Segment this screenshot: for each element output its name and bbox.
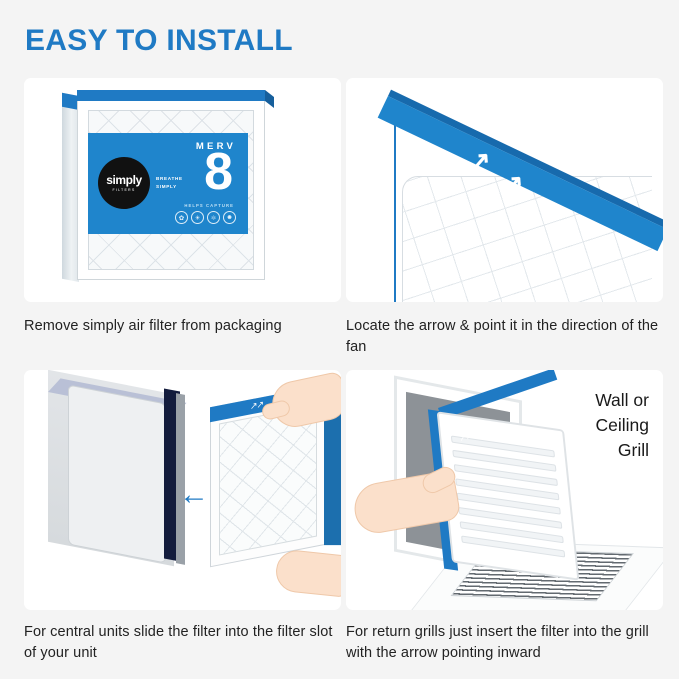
- filter-frame-closeup: ↗ ↗: [346, 78, 663, 302]
- capture-icon-row: ✿ ☀ ⚛ ☻: [175, 211, 236, 224]
- tagline-line-2: SIMPLY: [156, 183, 183, 191]
- wall-or-ceiling-grill-label: Wall or Ceiling Grill: [595, 388, 649, 463]
- step-4-image: ↗↗ Wall or Ceiling Grill: [346, 370, 663, 610]
- step-1-image: simply FILTERS BREATHE SIMPLY MERV 8 HEL…: [24, 78, 341, 302]
- step-1-caption: Remove simply air filter from packaging: [24, 316, 341, 337]
- hand-lower: [274, 548, 341, 597]
- mold-icon: ⚛: [207, 211, 220, 224]
- page-title: EASY TO INSTALL: [25, 26, 293, 56]
- label-line-2: Ceiling: [595, 413, 649, 438]
- step-2: ↗ ↗ Locate the arrow & point it in the d…: [346, 78, 663, 357]
- brand-logo: simply FILTERS: [98, 157, 150, 209]
- airflow-arrow-2: ↗: [501, 170, 525, 197]
- merv-rating: 8: [204, 146, 232, 198]
- label-line-3: Grill: [595, 438, 649, 463]
- step-4-caption: For return grills just insert the filter…: [346, 622, 663, 663]
- helps-capture-label: HELPS CAPTURE: [184, 203, 234, 208]
- filter-mesh: [402, 176, 652, 302]
- box-label: simply FILTERS BREATHE SIMPLY MERV 8 HEL…: [88, 133, 248, 234]
- step-1: simply FILTERS BREATHE SIMPLY MERV 8 HEL…: [24, 78, 341, 337]
- infographic-page: EASY TO INSTALL simply FILTERS: [0, 0, 679, 679]
- brand-name: simply: [106, 174, 142, 186]
- pollen-icon: ✿: [175, 211, 188, 224]
- step-4: ↗↗ Wall or Ceiling Grill For return gril…: [346, 370, 663, 663]
- step-3-image: ← ↗↗: [24, 370, 341, 610]
- dust-icon: ☀: [191, 211, 204, 224]
- insert-direction-arrow: ←: [179, 480, 209, 510]
- box-top-band: [77, 90, 265, 101]
- frame-vertical-edge: [394, 102, 396, 302]
- tagline-line-1: BREATHE: [156, 175, 183, 183]
- brand-tagline: BREATHE SIMPLY: [156, 175, 183, 191]
- product-box: simply FILTERS BREATHE SIMPLY MERV 8 HEL…: [62, 90, 274, 290]
- airflow-arrow-1: ↗: [468, 147, 492, 174]
- filter-mesh: [219, 404, 317, 555]
- pet-dander-icon: ☻: [223, 211, 236, 224]
- step-2-caption: Locate the arrow & point it in the direc…: [346, 316, 663, 357]
- label-line-1: Wall or: [595, 388, 649, 413]
- step-3-caption: For central units slide the filter into …: [24, 622, 341, 663]
- central-unit-scene: ← ↗↗: [24, 370, 341, 610]
- brand-sub: FILTERS: [113, 188, 136, 192]
- return-grill-scene: ↗↗ Wall or Ceiling Grill: [346, 370, 663, 610]
- step-3: ← ↗↗ For central units slide: [24, 370, 341, 663]
- hvac-unit-panel: [68, 384, 166, 563]
- step-2-image: ↗ ↗: [346, 78, 663, 302]
